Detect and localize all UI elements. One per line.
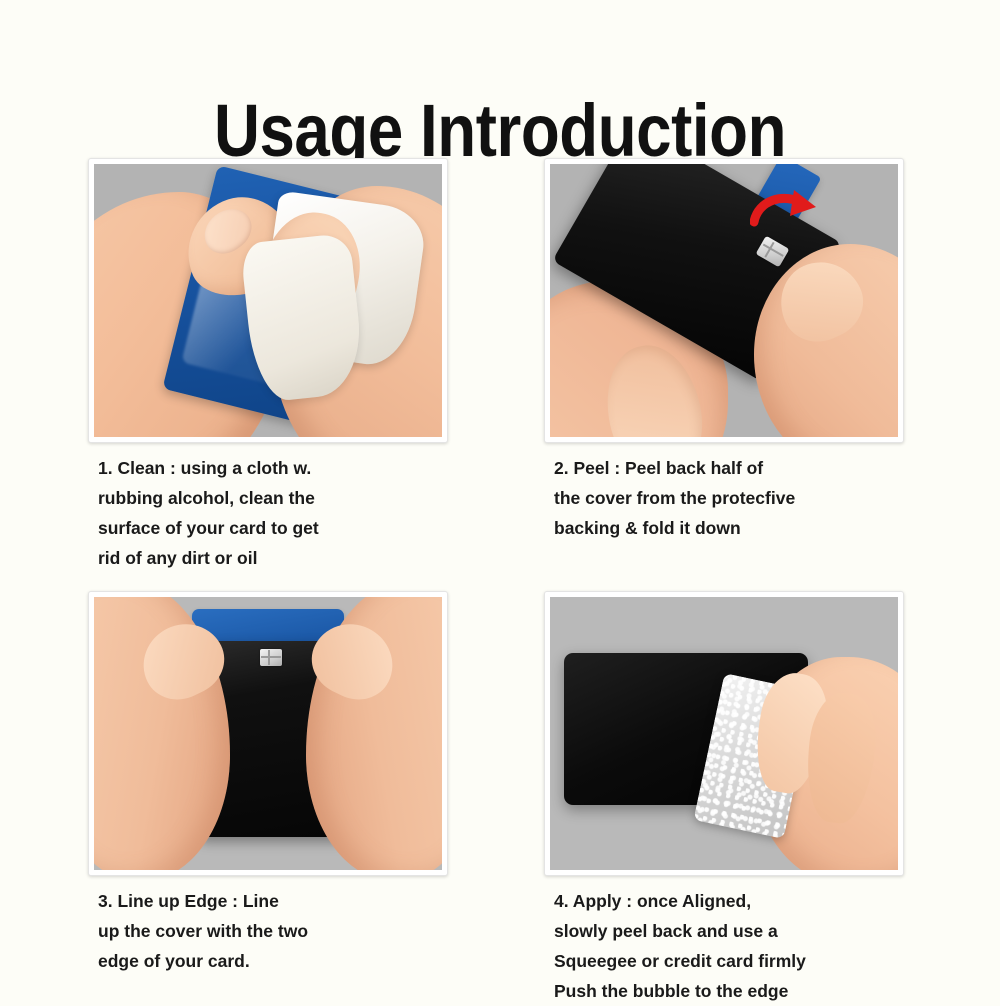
caption-line: surface of your card to get: [98, 513, 456, 543]
step-4-photo-apply-squeegee: [550, 597, 898, 870]
steps-grid: 1. Clean : using a cloth w. rubbing alco…: [88, 158, 912, 1006]
caption-line: backing & fold it down: [554, 513, 912, 543]
emv-chip-icon: [260, 649, 282, 666]
step-3-photo-frame: [88, 591, 448, 876]
caption-line: 3. Line up Edge : Line: [98, 886, 456, 916]
step-1-clean: 1. Clean : using a cloth w. rubbing alco…: [88, 158, 456, 573]
caption-line: Push the bubble to the edge: [554, 976, 912, 1006]
step-4-photo-frame: [544, 591, 904, 876]
caption-line: 1. Clean : using a cloth w.: [98, 453, 456, 483]
step-2-caption: 2. Peel : Peel back half of the cover fr…: [544, 453, 912, 543]
caption-line: edge of your card.: [98, 946, 456, 976]
caption-line: slowly peel back and use a: [554, 916, 912, 946]
peel-direction-arrow-icon: [750, 188, 820, 234]
caption-line: the cover from the protecfive: [554, 483, 912, 513]
step-3-photo-align-edges: [94, 597, 442, 870]
step-1-photo-clean-card-with-cloth: [94, 164, 442, 437]
step-4-caption: 4. Apply : once Aligned, slowly peel bac…: [544, 886, 912, 1006]
step-1-photo-frame: [88, 158, 448, 443]
step-2-photo-peel-cover: [550, 164, 898, 437]
caption-line: 2. Peel : Peel back half of: [554, 453, 912, 483]
step-2-peel: 2. Peel : Peel back half of the cover fr…: [544, 158, 912, 573]
caption-line: Squeegee or credit card firmly: [554, 946, 912, 976]
caption-line: up the cover with the two: [98, 916, 456, 946]
step-1-caption: 1. Clean : using a cloth w. rubbing alco…: [88, 453, 456, 573]
step-3-line-up-edge: 3. Line up Edge : Line up the cover with…: [88, 591, 456, 1006]
step-3-caption: 3. Line up Edge : Line up the cover with…: [88, 886, 456, 976]
caption-line: rubbing alcohol, clean the: [98, 483, 456, 513]
step-2-photo-frame: [544, 158, 904, 443]
step-4-apply: 4. Apply : once Aligned, slowly peel bac…: [544, 591, 912, 1006]
caption-line: rid of any dirt or oil: [98, 543, 456, 573]
caption-line: 4. Apply : once Aligned,: [554, 886, 912, 916]
usage-introduction-page: Usage Introduction: [0, 0, 1000, 1000]
